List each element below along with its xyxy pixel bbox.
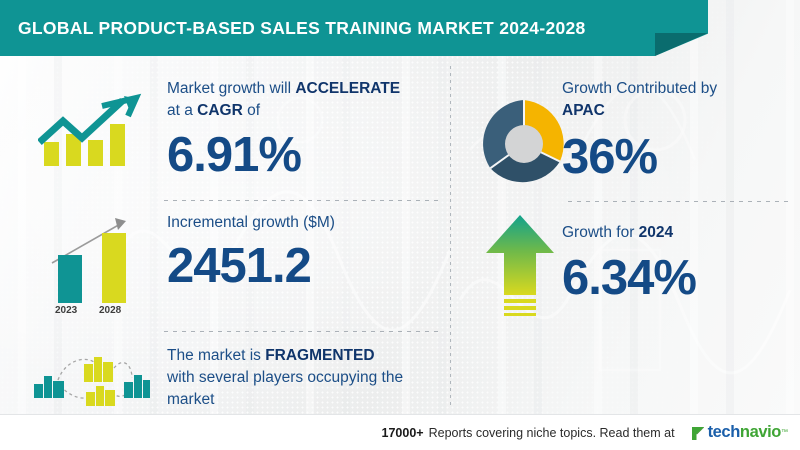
cagr-value: 6.91% bbox=[167, 131, 439, 180]
cagr-block: Market growth will ACCELERATE at a CAGR … bbox=[167, 78, 439, 180]
bar-label-2023: 2023 bbox=[55, 305, 77, 316]
frag-line1-prefix: The market is bbox=[167, 347, 265, 364]
right-divider-1 bbox=[568, 201, 790, 202]
technavio-logo[interactable]: tech navio ™ bbox=[691, 423, 788, 442]
incremental-growth-value: 2451.2 bbox=[167, 242, 439, 291]
bar-2023-shape bbox=[58, 255, 82, 303]
page-title: GLOBAL PRODUCT-BASED SALES TRAINING MARK… bbox=[18, 0, 586, 56]
apac-line2-bold: APAC bbox=[562, 102, 605, 119]
frag-line1-bold: FRAGMENTED bbox=[265, 347, 374, 364]
incremental-growth-label: Incremental growth ($M) bbox=[167, 212, 439, 234]
apac-value: 36% bbox=[562, 133, 794, 182]
donut-chart-icon bbox=[478, 98, 570, 190]
frag-line2: with several players occupying the bbox=[167, 369, 403, 386]
frag-line3: market bbox=[167, 391, 214, 408]
footer-description: Reports covering niche topics. Read them… bbox=[429, 426, 675, 440]
cagr-label: Market growth will ACCELERATE at a CAGR … bbox=[167, 78, 439, 122]
bar-label-2028: 2028 bbox=[99, 305, 121, 316]
growth-chart-icon bbox=[38, 90, 142, 168]
fragmentation-block: The market is FRAGMENTED with several pl… bbox=[167, 345, 447, 411]
header-fold-corner bbox=[655, 33, 708, 56]
bar-comparison-icon: 2023 2028 bbox=[30, 205, 148, 323]
fragmented-market-icon bbox=[28, 348, 150, 408]
cagr-line1-prefix: Market growth will bbox=[167, 80, 295, 97]
bar-2028-shape bbox=[102, 233, 126, 303]
infographic-root: GLOBAL PRODUCT-BASED SALES TRAINING MARK… bbox=[0, 0, 800, 450]
footer-report-count: 17000+ bbox=[382, 426, 424, 440]
incremental-growth-block: Incremental growth ($M) 2451.2 bbox=[167, 212, 439, 291]
cagr-line2-bold: CAGR bbox=[197, 102, 243, 119]
column-divider bbox=[450, 66, 451, 408]
growth-2024-value: 6.34% bbox=[562, 254, 794, 303]
cagr-line2-suffix: of bbox=[243, 102, 260, 119]
growth-2024-block: Growth for 2024 6.34% bbox=[562, 222, 794, 303]
cagr-line2-prefix: at a bbox=[167, 102, 197, 119]
apac-line1: Growth Contributed by bbox=[562, 80, 717, 97]
left-divider-1 bbox=[164, 200, 440, 201]
apac-label: Growth Contributed by APAC bbox=[562, 78, 794, 122]
cagr-line1-bold: ACCELERATE bbox=[295, 80, 400, 97]
apac-contribution-block: Growth Contributed by APAC 36% bbox=[562, 78, 794, 182]
growth-2024-prefix: Growth for bbox=[562, 224, 639, 241]
growth-2024-label: Growth for 2024 bbox=[562, 222, 794, 244]
growth-2024-bold: 2024 bbox=[639, 224, 673, 241]
fragmentation-label: The market is FRAGMENTED with several pl… bbox=[167, 345, 447, 411]
technavio-flag-icon bbox=[691, 424, 706, 441]
logo-text-tech: tech bbox=[708, 423, 740, 442]
logo-text-navio: navio bbox=[740, 423, 781, 442]
left-divider-2 bbox=[164, 331, 440, 332]
up-arrow-icon bbox=[484, 213, 556, 317]
logo-trademark: ™ bbox=[781, 429, 788, 436]
footer-bar: 17000+ Reports covering niche topics. Re… bbox=[0, 414, 800, 450]
